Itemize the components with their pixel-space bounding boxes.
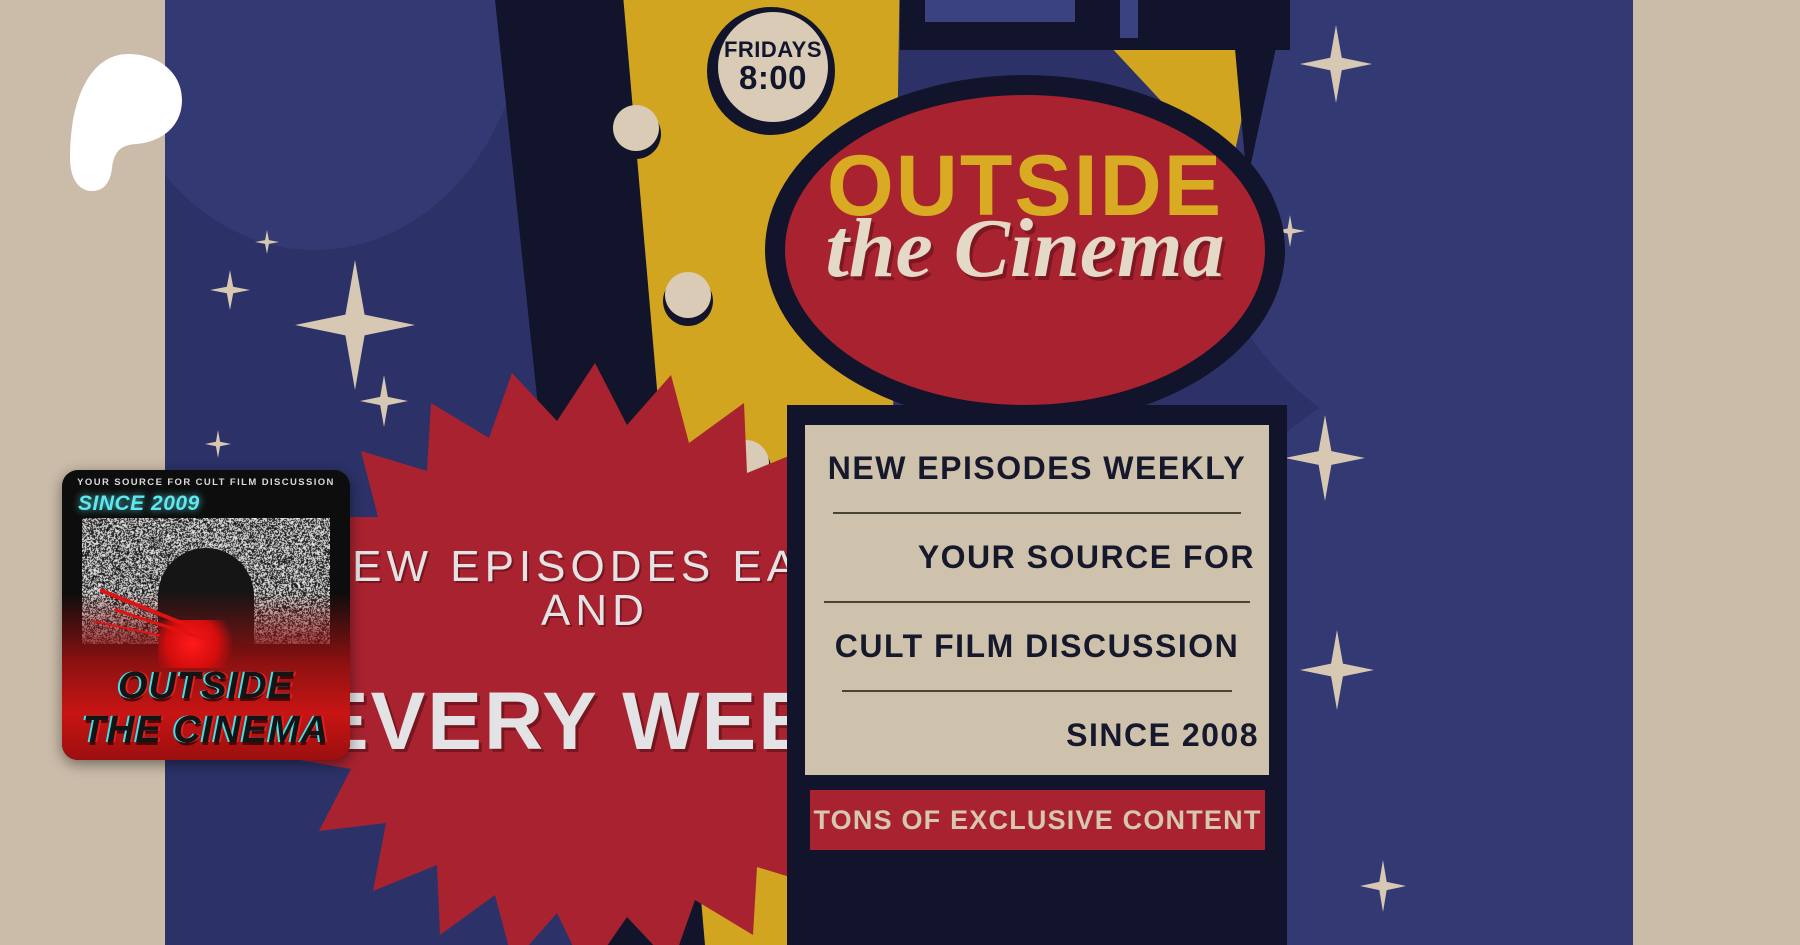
schedule-day: FRIDAYS (724, 39, 822, 61)
bottom-banner-text: TONS OF EXCLUSIVE CONTENT (813, 805, 1261, 836)
marquee-row: NEW EPISODES WEEKLY (805, 425, 1269, 512)
marquee-board: NEW EPISODES WEEKLY YOUR SOURCE FOR CULT… (805, 425, 1269, 775)
schedule-badge: FRIDAYS 8:00 (718, 12, 828, 122)
sign-oval: OUTSIDE the Cinema (785, 95, 1265, 405)
schedule-time: 8:00 (739, 61, 807, 96)
marquee-row: YOUR SOURCE FOR (805, 514, 1269, 601)
cover-artwork: NEW EPISODES EACH AND EVERY WEEK OUTSIDE… (165, 0, 1633, 945)
marquee-line-4: SINCE 2008 (805, 717, 1269, 754)
marquee-line-2: YOUR SOURCE FOR (805, 539, 1269, 576)
thumbnail-tagline: YOUR SOURCE FOR CULT FILM DISCUSSION (62, 477, 350, 488)
thumbnail-since: SINCE 2009 (78, 492, 200, 516)
marquee-line-3: CULT FILM DISCUSSION (805, 628, 1269, 665)
podcast-thumbnail[interactable]: YOUR SOURCE FOR CULT FILM DISCUSSION SIN… (62, 470, 350, 760)
patreon-logo[interactable] (70, 52, 182, 192)
marquee-row: CULT FILM DISCUSSION (805, 603, 1269, 690)
marquee-row: SINCE 2008 (805, 692, 1269, 779)
bottom-banner: TONS OF EXCLUSIVE CONTENT (810, 790, 1265, 850)
thumbnail-title-line-2: THE CINEMA (62, 709, 350, 752)
marquee-line-1: NEW EPISODES WEEKLY (805, 450, 1269, 487)
sign-subtitle: the Cinema (785, 207, 1265, 291)
thumbnail-title-line-1: OUTSIDE (62, 665, 350, 708)
page-root: NEW EPISODES EACH AND EVERY WEEK OUTSIDE… (0, 0, 1800, 945)
